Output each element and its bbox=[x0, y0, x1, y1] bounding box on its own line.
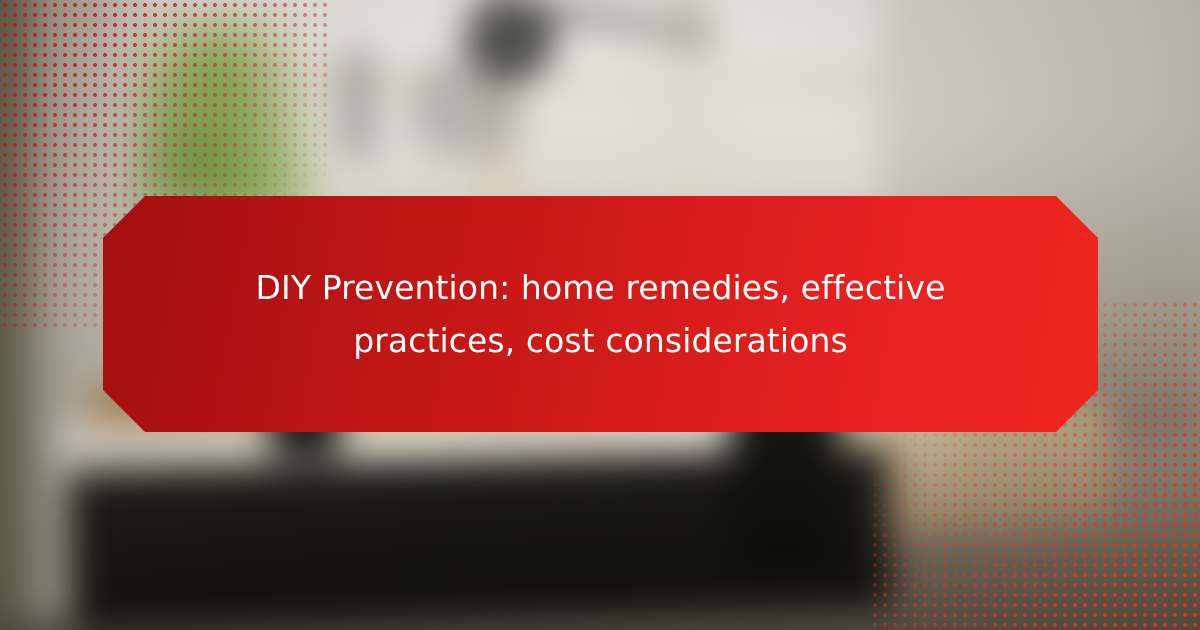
page-title: DIY Prevention: home remedies, effective… bbox=[213, 261, 988, 368]
share-card: DIY Prevention: home remedies, effective… bbox=[0, 0, 1200, 630]
title-banner: DIY Prevention: home remedies, effective… bbox=[103, 196, 1098, 432]
